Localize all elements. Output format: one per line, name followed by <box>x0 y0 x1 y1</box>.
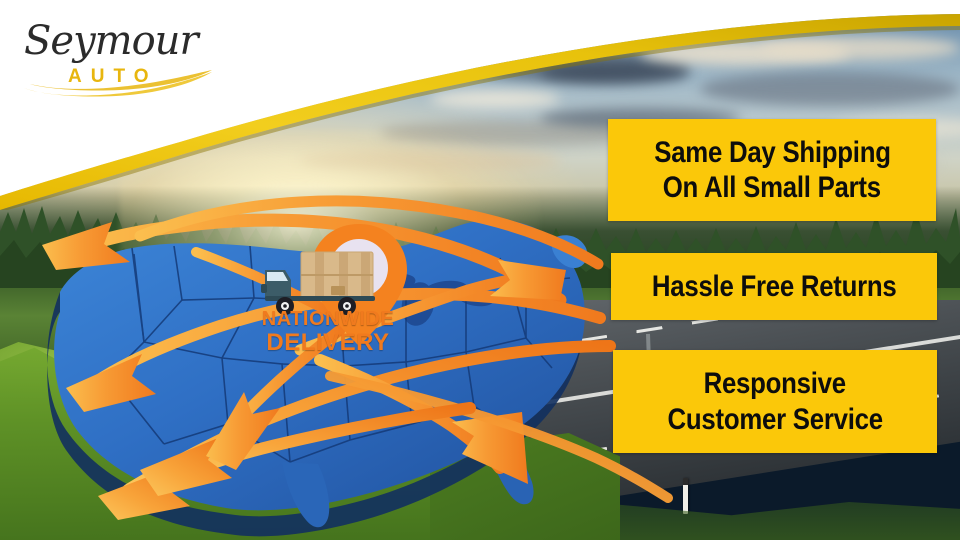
feature-box-hassle-free-returns[interactable]: Hassle Free Returns <box>611 253 937 320</box>
seymour-auto-logo[interactable]: Seymour AUTO <box>16 14 226 100</box>
nationwide-delivery-label: NATIONWIDE DELIVERY <box>258 308 398 357</box>
feature-line: Responsive <box>704 366 846 401</box>
feature-box-same-day-shipping[interactable]: Same Day Shipping On All Small Parts <box>608 119 936 221</box>
feature-box-responsive-customer-service[interactable]: Responsive Customer Service <box>613 350 937 453</box>
logo-wordmark: Seymour <box>24 18 198 64</box>
cloud <box>540 62 690 84</box>
feature-line: Hassle Free Returns <box>652 269 897 304</box>
nationwide-delivery-line1: NATIONWIDE <box>258 308 398 330</box>
cloud <box>430 90 560 108</box>
feature-line: Same Day Shipping <box>654 135 890 170</box>
nationwide-delivery-line2: DELIVERY <box>258 330 398 357</box>
promo-banner: NATIONWIDE DELIVERY <box>0 0 960 540</box>
feature-line: Customer Service <box>667 402 882 437</box>
cloud <box>760 36 960 60</box>
cloud <box>700 72 960 106</box>
feature-line: On All Small Parts <box>663 170 881 205</box>
logo-subtitle: AUTO <box>68 66 157 88</box>
